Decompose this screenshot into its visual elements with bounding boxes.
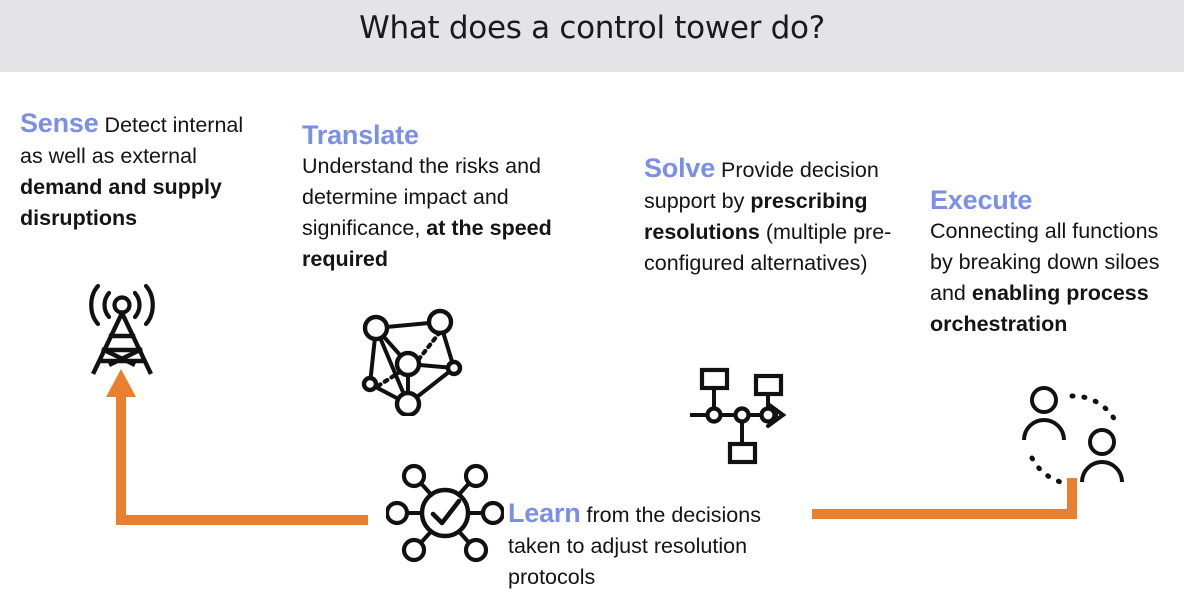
stage-text-execute: Execute Connecting all functions by brea… (930, 185, 1180, 340)
feedback-arrow-to-sense (100, 363, 370, 535)
slide-canvas: What does a control tower do? Sense Dete… (0, 0, 1184, 610)
hub-checkmark-icon (386, 456, 504, 570)
sense-text-bold: demand and supply disruptions (20, 175, 222, 230)
stage-text-learn: Learn from the decisions taken to adjust… (508, 498, 808, 593)
stage-text-translate: Translate Understand the risks and deter… (302, 120, 558, 275)
stage-keyword-sense: Sense (20, 108, 99, 138)
stage-keyword-execute: Execute (930, 185, 1180, 216)
stage-keyword-solve: Solve (644, 153, 715, 183)
stage-text-sense: Sense Detect internal as well as externa… (20, 108, 252, 234)
stage-keyword-learn: Learn (508, 498, 581, 528)
flow-line-execute-to-learn (810, 462, 1090, 530)
stage-text-solve: Solve Provide decision support by prescr… (644, 153, 896, 279)
stage-keyword-translate: Translate (302, 120, 558, 151)
signal-tower-icon (70, 272, 174, 376)
page-title: What does a control tower do? (0, 10, 1184, 46)
decision-flow-icon (688, 362, 796, 468)
